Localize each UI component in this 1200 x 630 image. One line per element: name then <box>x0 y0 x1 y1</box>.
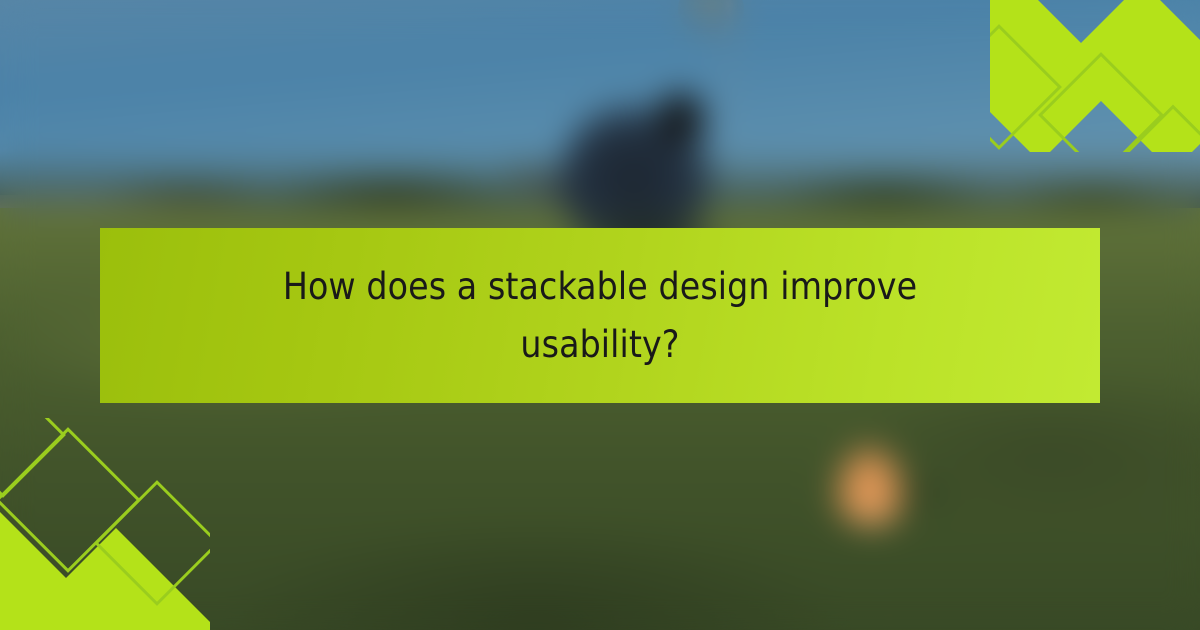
social-share-card: How does a stackable design improve usab… <box>0 0 1200 630</box>
page-title: How does a stackable design improve usab… <box>250 258 950 373</box>
headline-banner: How does a stackable design improve usab… <box>100 228 1100 403</box>
